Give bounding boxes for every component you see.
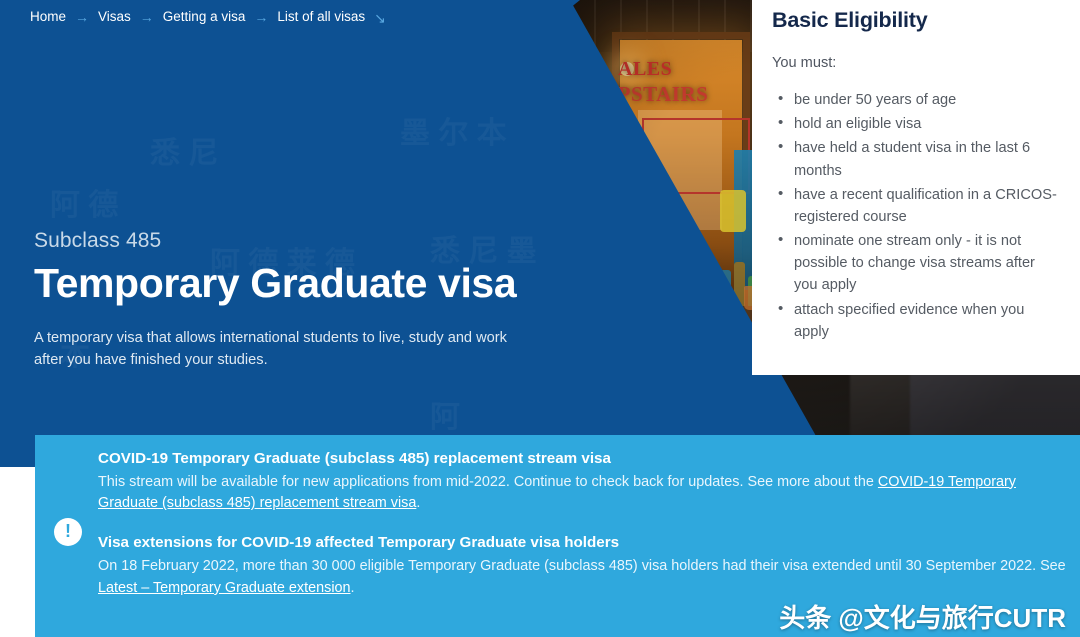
breadcrumb-item-home[interactable]: Home	[30, 9, 66, 24]
covid-alert-banner: ! COVID-19 Temporary Graduate (subclass …	[35, 435, 1080, 637]
alert-block-1: COVID-19 Temporary Graduate (subclass 48…	[98, 448, 1068, 515]
alert-link-temporary-graduate-extension[interactable]: Latest – Temporary Graduate extension	[98, 580, 351, 596]
breadcrumb: Home → Visas → Getting a visa → List of …	[30, 9, 386, 24]
eligibility-list: be under 50 years of age hold an eligibl…	[772, 89, 1060, 343]
breadcrumb-item-getting-a-visa[interactable]: Getting a visa	[163, 9, 246, 24]
alert-paragraph: On 18 February 2022, more than 30 000 el…	[98, 556, 1068, 600]
eligibility-list-item: be under 50 years of age	[772, 89, 1060, 111]
breadcrumb-separator-icon: →	[140, 10, 154, 24]
alert-exclamation-icon: !	[54, 518, 82, 546]
channel-watermark: 头条 @文化与旅行CUTR	[779, 598, 1066, 635]
eligibility-title: Basic Eligibility	[772, 8, 1060, 33]
breadcrumb-item-visas[interactable]: Visas	[98, 9, 131, 24]
page-root: ALES UPSTAIRS THE ROLL ← SOME GoTo HELL	[0, 0, 1080, 637]
basic-eligibility-panel: Basic Eligibility You must: be under 50 …	[752, 0, 1080, 375]
breadcrumb-item-list-of-all-visas[interactable]: List of all visas	[277, 9, 365, 24]
subclass-label: Subclass 485	[34, 228, 554, 253]
alert-heading: Visa extensions for COVID-19 affected Te…	[98, 532, 1068, 554]
alert-text-before-link: On 18 February 2022, more than 30 000 el…	[98, 558, 1066, 574]
eligibility-list-item: have held a student visa in the last 6 m…	[772, 137, 1060, 181]
eligibility-list-item: nominate one stream only - it is not pos…	[772, 230, 1060, 297]
alert-content: COVID-19 Temporary Graduate (subclass 48…	[98, 448, 1068, 600]
alert-text-before-link: This stream will be available for new ap…	[98, 474, 878, 490]
alert-block-2: Visa extensions for COVID-19 affected Te…	[98, 532, 1068, 599]
breadcrumb-separator-icon: →	[254, 10, 268, 24]
breadcrumb-separator-icon: →	[75, 10, 89, 24]
alert-paragraph: This stream will be available for new ap…	[98, 472, 1068, 516]
alert-text-after-link: .	[351, 580, 355, 596]
eligibility-list-item: have a recent qualification in a CRICOS-…	[772, 184, 1060, 228]
alert-icon-glyph: !	[65, 522, 71, 540]
page-title: Temporary Graduate visa	[34, 261, 554, 307]
eligibility-intro: You must:	[772, 55, 1060, 71]
alert-text-after-link: .	[416, 495, 420, 511]
hero-text-block: Subclass 485 Temporary Graduate visa A t…	[34, 228, 554, 371]
eligibility-list-item: hold an eligible visa	[772, 113, 1060, 135]
breadcrumb-expand-arrow-icon[interactable]: ↘	[374, 11, 386, 25]
hero-description: A temporary visa that allows internation…	[34, 327, 534, 371]
alert-heading: COVID-19 Temporary Graduate (subclass 48…	[98, 448, 1068, 470]
eligibility-list-item: attach specified evidence when you apply	[772, 299, 1060, 343]
